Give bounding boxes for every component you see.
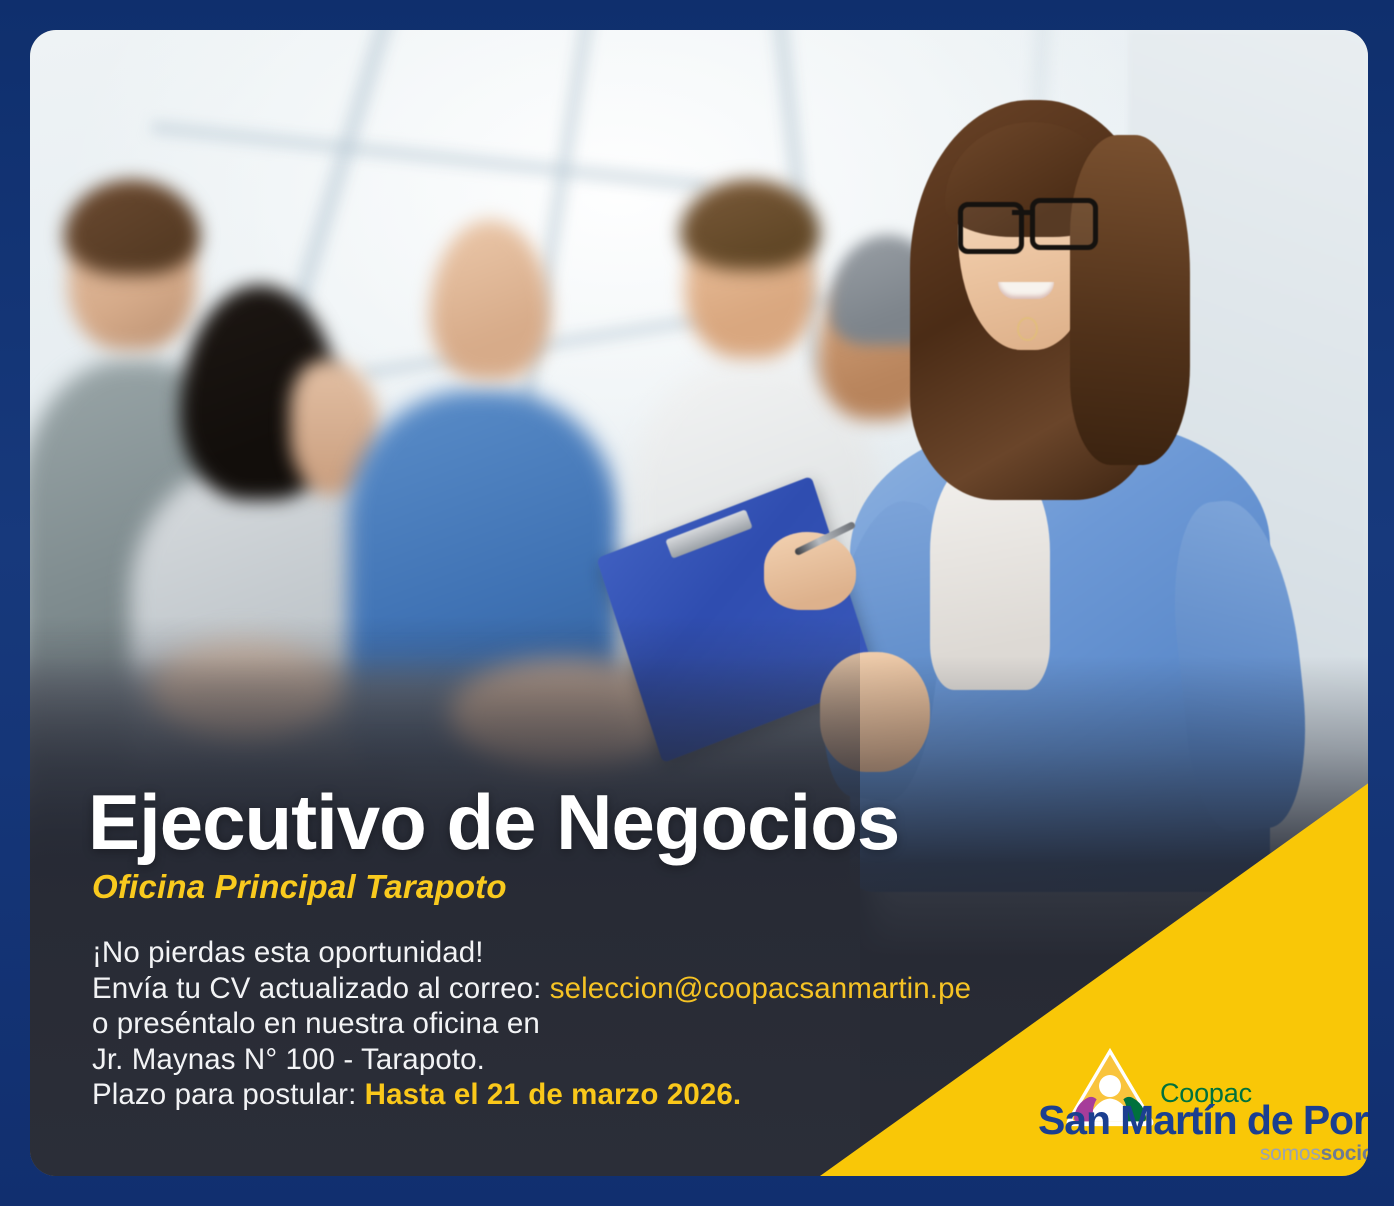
background-person-head xyxy=(430,220,550,380)
email-address[interactable]: seleccion@coopacsanmartin.pe xyxy=(550,972,971,1005)
eyeglasses-bridge xyxy=(1012,210,1032,215)
job-details-text: ¡No pierdas esta oportunidad! Envía tu C… xyxy=(92,935,971,1113)
foreground-woman-mouth xyxy=(998,282,1054,299)
tagline-somos: somos xyxy=(1260,1142,1321,1165)
tagline-socios: socios xyxy=(1321,1142,1368,1165)
background-person-hair xyxy=(64,180,200,275)
coopac-logo: Coopac San Martín de Porres somossocios xyxy=(1038,1030,1368,1170)
detail-line-opportunity: ¡No pierdas esta oportunidad! xyxy=(92,935,971,971)
poster-inner-frame: Ejecutivo de Negocios Oficina Principal … xyxy=(30,30,1368,1176)
deadline-date: Hasta el 21 de marzo 2026. xyxy=(365,1078,741,1111)
email-label: Envía tu CV actualizado al correo: xyxy=(92,972,550,1005)
logo-name-text: San Martín de Porres xyxy=(1038,1097,1368,1144)
logo-tagline: somossocios xyxy=(1260,1142,1368,1166)
detail-line-address: Jr. Maynas N° 100 - Tarapoto. xyxy=(92,1042,971,1078)
window-mullion xyxy=(151,121,709,192)
job-posting-poster: Ejecutivo de Negocios Oficina Principal … xyxy=(0,0,1394,1206)
eyeglasses-right-lens xyxy=(1030,198,1098,250)
detail-line-email: Envía tu CV actualizado al correo: selec… xyxy=(92,971,971,1007)
detail-line-office: o preséntalo en nuestra oficina en xyxy=(92,1006,971,1042)
subtitle-office: Oficina Principal Tarapoto xyxy=(92,868,507,906)
earring xyxy=(1017,317,1038,341)
deadline-label: Plazo para postular: xyxy=(92,1078,365,1111)
detail-line-deadline: Plazo para postular: Hasta el 21 de marz… xyxy=(92,1077,971,1113)
foreground-woman-hair xyxy=(1070,135,1190,465)
page-title: Ejecutivo de Negocios xyxy=(88,785,899,859)
